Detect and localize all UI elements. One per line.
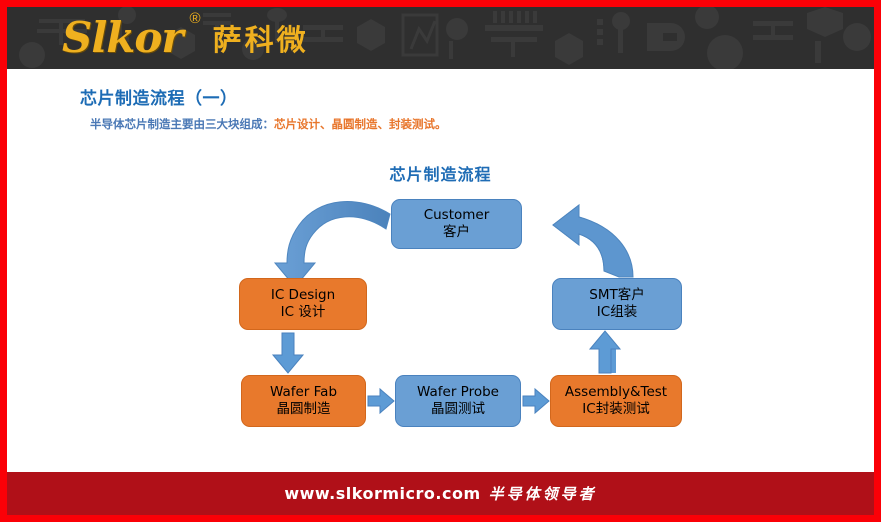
flow-node-wafer-probe-en: Wafer Probe <box>417 384 499 401</box>
diagram-title: 芯片制造流程 <box>7 161 874 185</box>
registered-trademark-icon: ® <box>190 10 201 27</box>
subtitle-highlight-text: 芯片设计、晶圆制造、封装测试。 <box>274 117 447 131</box>
flow-node-ic-design-cn: IC 设计 <box>281 304 326 321</box>
footer-content: www.slkormicro.com半导体领导者 <box>284 483 596 504</box>
footer-website-url[interactable]: www.slkormicro.com <box>284 484 480 503</box>
process-flow-diagram: Customer 客户 IC Design IC 设计 SMT客户 IC组装 W… <box>7 189 874 469</box>
flow-node-customer-cn: 客户 <box>443 224 470 241</box>
flow-node-ic-design[interactable]: IC Design IC 设计 <box>239 278 367 330</box>
flow-node-smt-customer-en: SMT客户 <box>589 287 644 304</box>
flow-node-smt-customer[interactable]: SMT客户 IC组装 <box>552 278 682 330</box>
flow-node-wafer-fab-cn: 晶圆制造 <box>277 401 331 418</box>
logo-wordmark: Slkor <box>62 17 183 59</box>
subtitle-plain-text: 半导体芯片制造主要由三大块组成： <box>90 117 274 131</box>
flow-node-assembly-test-en: Assembly&Test <box>565 384 667 401</box>
flow-node-customer-en: Customer <box>424 207 490 224</box>
page-footer: www.slkormicro.com半导体领导者 <box>7 472 874 515</box>
flow-node-assembly-test[interactable]: Assembly&Test IC封装测试 <box>550 375 682 427</box>
connector-customer-to-icdesign <box>275 202 390 287</box>
connector-icdesign-to-waferfab <box>273 333 303 373</box>
page-title: 芯片制造流程（一） <box>80 84 238 109</box>
flow-node-customer[interactable]: Customer 客户 <box>391 199 522 249</box>
connector-smt-to-customer <box>553 205 633 277</box>
flow-node-wafer-probe-cn: 晶圆测试 <box>431 401 485 418</box>
flow-node-smt-customer-cn: IC组装 <box>597 304 637 321</box>
connector-waferfab-to-waferprobe <box>368 389 394 413</box>
flow-node-wafer-fab-en: Wafer Fab <box>270 384 337 401</box>
slide-body: 芯片制造流程（一） 半导体芯片制造主要由三大块组成：芯片设计、晶圆制造、封装测试… <box>7 69 874 472</box>
page-subtitle: 半导体芯片制造主要由三大块组成：芯片设计、晶圆制造、封装测试。 <box>90 116 447 132</box>
flow-node-assembly-test-cn: IC封装测试 <box>582 401 649 418</box>
logo-chinese-name: 萨科微 <box>213 17 309 59</box>
footer-tagline: 半导体领导者 <box>489 485 597 503</box>
flow-node-wafer-probe[interactable]: Wafer Probe 晶圆测试 <box>395 375 521 427</box>
slide-container: Slkor ® 萨科微 芯片制造流程（一） 半导体芯片制造主要由三大块组成：芯片… <box>0 0 881 522</box>
connector-assembly-to-smt <box>590 331 620 373</box>
flow-node-wafer-fab[interactable]: Wafer Fab 晶圆制造 <box>241 375 366 427</box>
flow-node-ic-design-en: IC Design <box>271 287 335 304</box>
brand-logo: Slkor ® 萨科微 <box>62 14 309 62</box>
connector-waferprobe-to-assembly <box>523 389 549 413</box>
page-header: Slkor ® 萨科微 <box>7 7 874 69</box>
